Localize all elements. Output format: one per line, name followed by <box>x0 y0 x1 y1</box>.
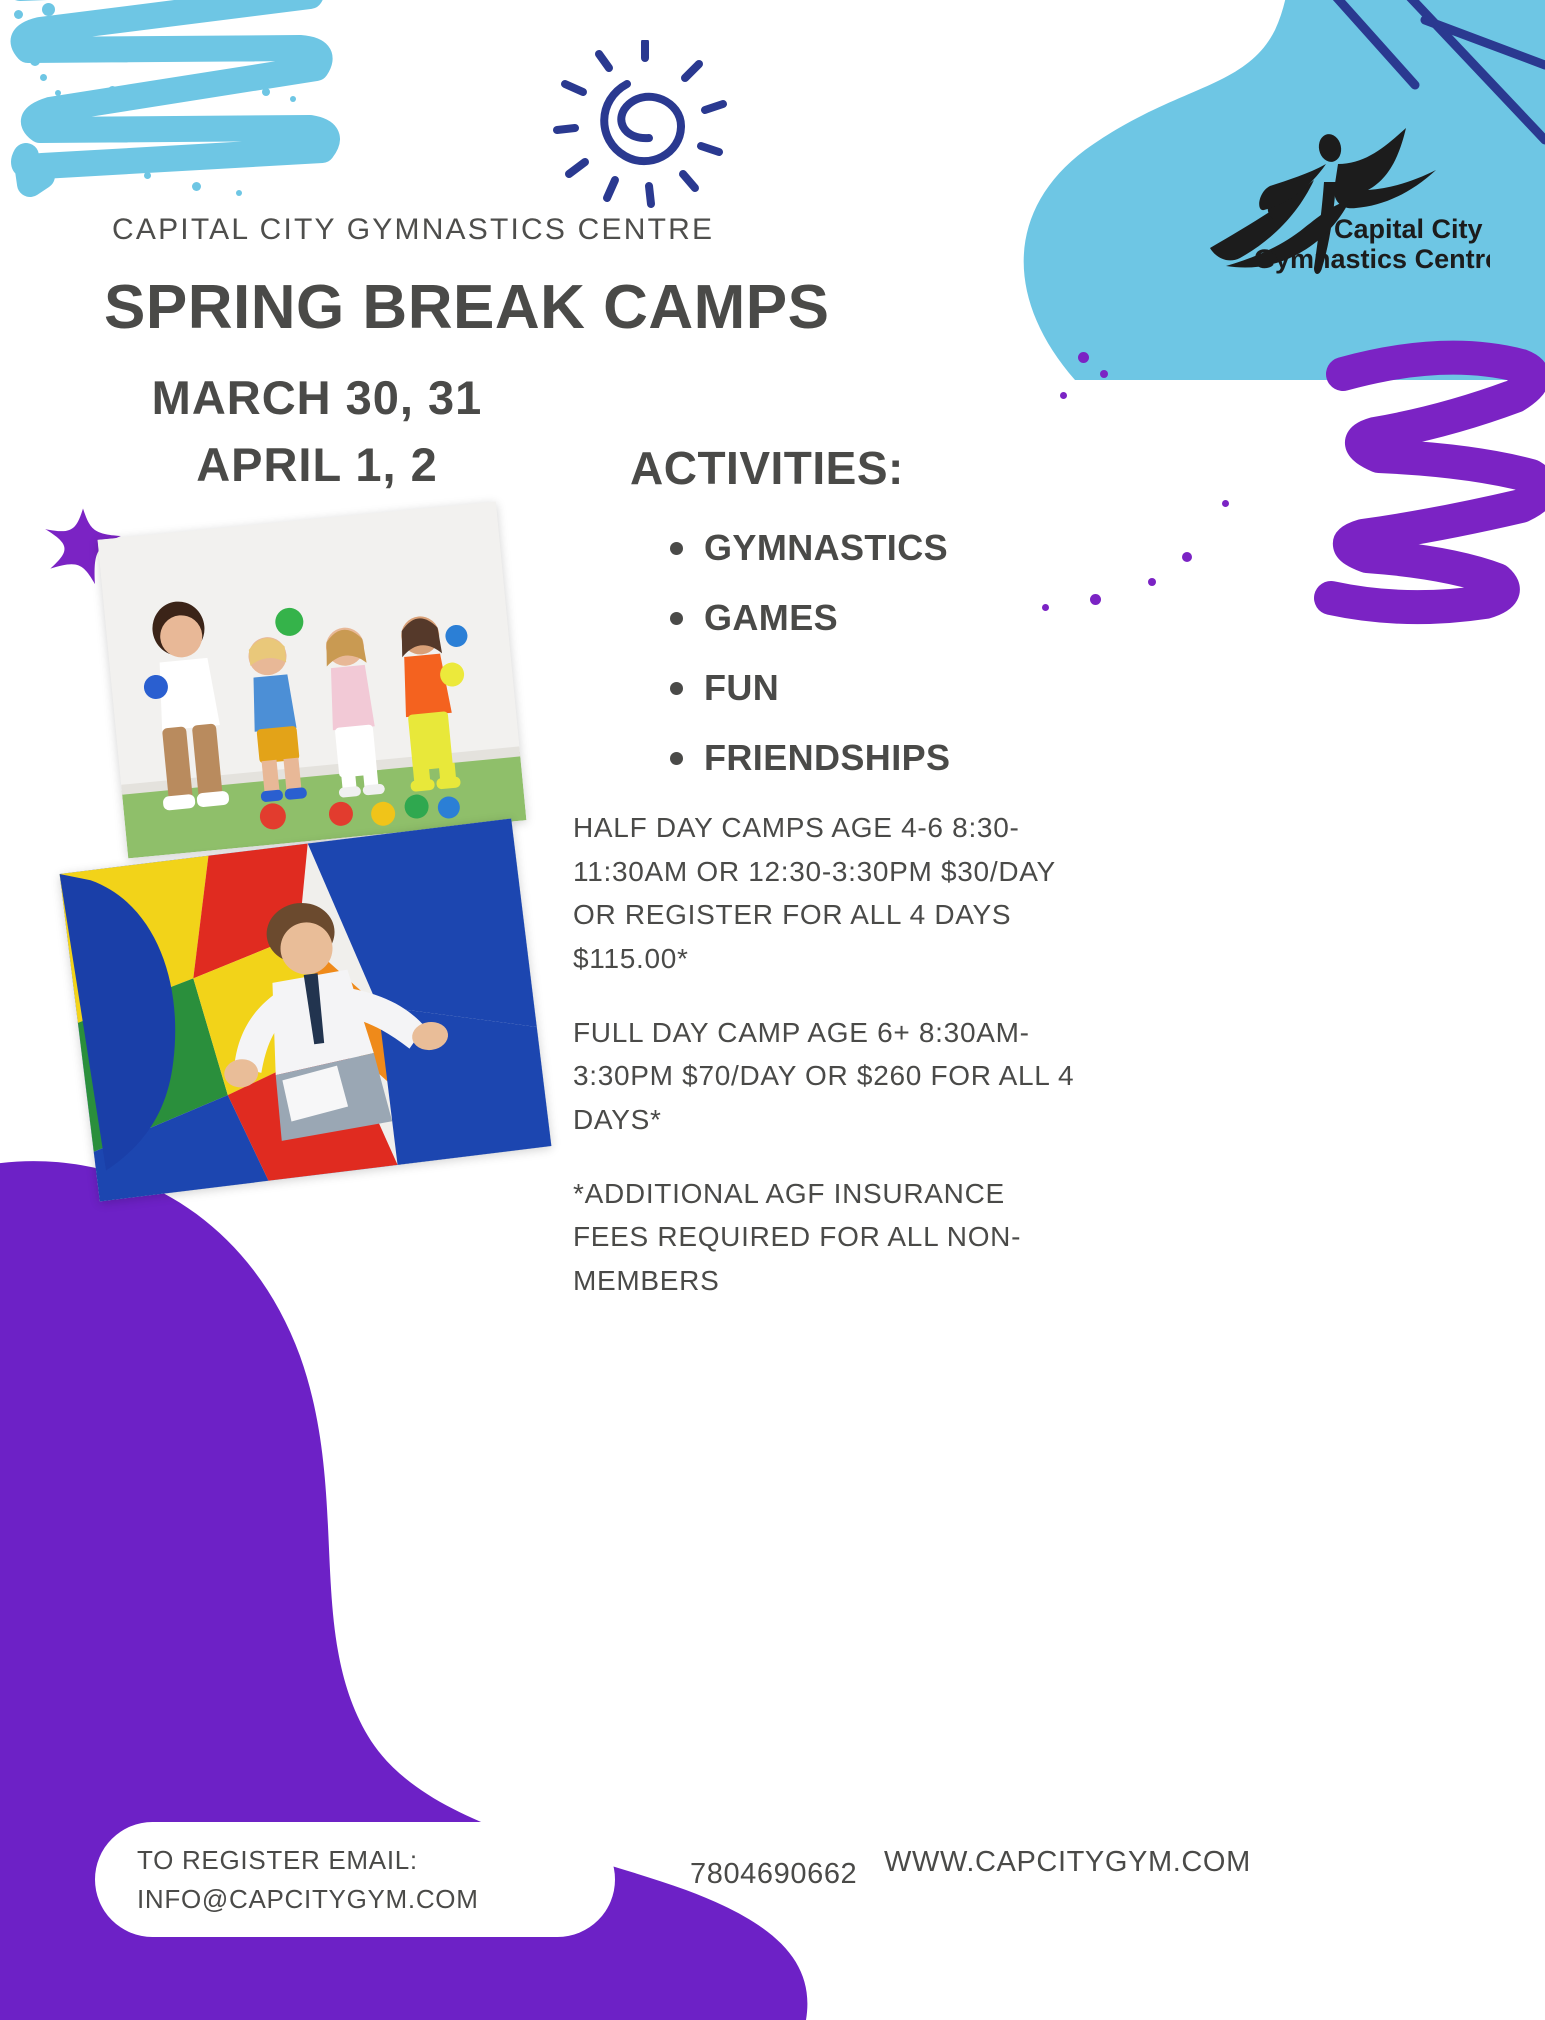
blue-brush-stroke-decoration <box>0 0 340 200</box>
splatter-dot <box>262 88 270 96</box>
splatter-dot <box>144 172 151 179</box>
brand-logo: Capital City Gymnastics Centre <box>1210 128 1490 278</box>
camp-dates: MARCH 30, 31 APRIL 1, 2 <box>112 365 522 498</box>
register-contact-pill: TO REGISTER EMAIL: INFO@CAPCITYGYM.COM <box>95 1822 615 1937</box>
logo-line2: Gymnastics Centre <box>1254 244 1490 274</box>
splatter-dot <box>108 86 117 95</box>
contact-phone[interactable]: 7804690662 <box>690 1858 857 1891</box>
splatter-dot <box>55 90 61 96</box>
brand-eyebrow: CAPITAL CITY GYMNASTICS CENTRE <box>112 213 714 247</box>
child-under-rainbow-parachute-photo <box>60 819 552 1202</box>
splatter-dot <box>40 74 47 81</box>
activities-heading: ACTIVITIES: <box>630 441 904 495</box>
splatter-dot <box>100 44 107 51</box>
page-title: SPRING BREAK CAMPS <box>104 272 830 343</box>
camp-dates-line1: MARCH 30, 31 <box>112 365 522 432</box>
camp-dates-line2: APRIL 1, 2 <box>112 432 522 499</box>
full-day-details: FULL DAY CAMP AGE 6+ 8:30AM-3:30PM $70/D… <box>573 1011 1083 1142</box>
sun-doodle-icon <box>545 40 745 210</box>
contact-website[interactable]: WWW.CAPCITYGYM.COM <box>884 1846 1251 1879</box>
list-item: FRIENDSHIPS <box>660 737 950 779</box>
list-item: GYMNASTICS <box>660 527 950 569</box>
register-label: TO REGISTER EMAIL: <box>137 1841 615 1880</box>
activities-list: GYMNASTICS GAMES FUN FRIENDSHIPS <box>660 527 950 807</box>
splatter-dot <box>1042 604 1049 611</box>
insurance-footnote: *ADDITIONAL AGF INSURANCE FEES REQUIRED … <box>573 1172 1083 1303</box>
splatter-dot <box>136 118 144 126</box>
list-item: FUN <box>660 667 950 709</box>
splatter-dot <box>30 56 40 66</box>
list-item: GAMES <box>660 597 950 639</box>
splatter-dot <box>1100 370 1108 378</box>
splatter-dot <box>62 20 69 27</box>
children-throwing-balls-photo <box>98 502 527 859</box>
camp-details: HALF DAY CAMPS AGE 4-6 8:30-11:30AM OR 1… <box>573 806 1083 1303</box>
splatter-dot <box>192 182 201 191</box>
splatter-dot <box>236 190 242 196</box>
splatter-dot <box>1078 352 1089 363</box>
splatter-dot <box>1090 594 1101 605</box>
register-email[interactable]: INFO@CAPCITYGYM.COM <box>137 1880 615 1919</box>
splatter-dot <box>160 150 171 161</box>
purple-scribble-decoration <box>1235 330 1545 630</box>
splatter-dot <box>1060 392 1067 399</box>
splatter-dot <box>212 156 220 164</box>
splatter-dot <box>14 10 23 19</box>
splatter-dot <box>1222 500 1229 507</box>
splatter-dot <box>1148 578 1156 586</box>
splatter-dot <box>290 96 296 102</box>
logo-line1: Capital City <box>1334 214 1483 244</box>
splatter-dot <box>1182 552 1192 562</box>
half-day-details: HALF DAY CAMPS AGE 4-6 8:30-11:30AM OR 1… <box>573 806 1083 981</box>
splatter-dot <box>42 3 55 16</box>
